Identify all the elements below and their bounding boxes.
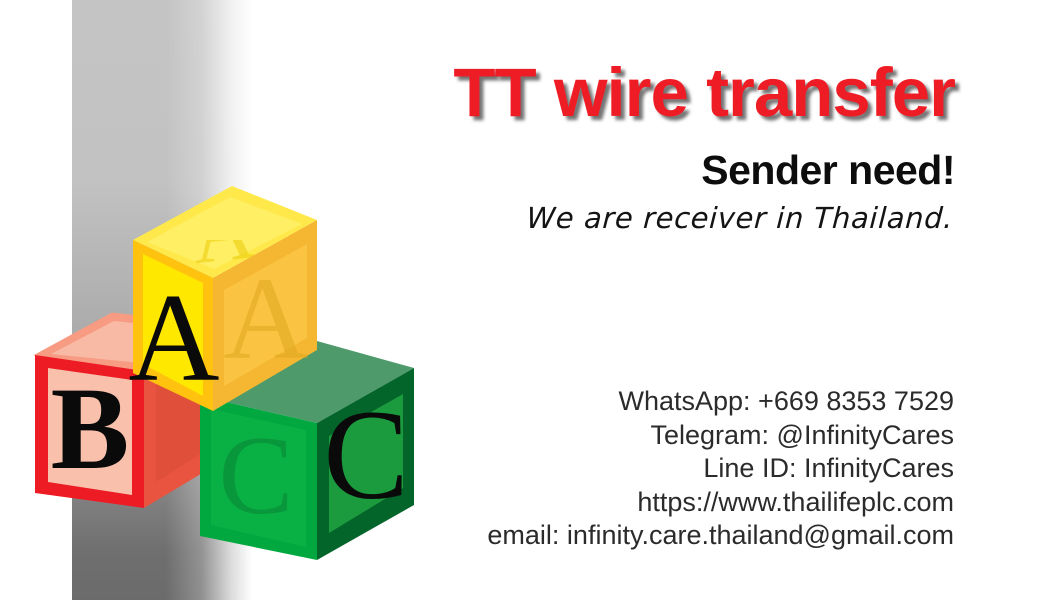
- flyer-canvas: B C C C: [0, 0, 1063, 600]
- contact-website[interactable]: https://www.thailifeplc.com: [239, 486, 954, 520]
- contact-email[interactable]: email: infinity.care.thailand@gmail.com: [239, 519, 954, 553]
- svg-text:B: B: [51, 363, 130, 494]
- svg-text:A: A: [129, 269, 220, 408]
- page-title: TT wire transfer: [240, 58, 955, 127]
- contact-line-id: Line ID: InfinityCares: [239, 452, 954, 486]
- contact-telegram: Telegram: @InfinityCares: [239, 419, 954, 453]
- tagline: We are receiver in Thailand.: [237, 203, 954, 235]
- text-column: TT wire transfer Sender need! We are rec…: [240, 0, 955, 600]
- subtitle: Sender need!: [240, 150, 955, 191]
- contact-list: WhatsApp: +669 8353 7529 Telegram: @Infi…: [239, 385, 954, 553]
- contact-whatsapp: WhatsApp: +669 8353 7529: [239, 385, 954, 419]
